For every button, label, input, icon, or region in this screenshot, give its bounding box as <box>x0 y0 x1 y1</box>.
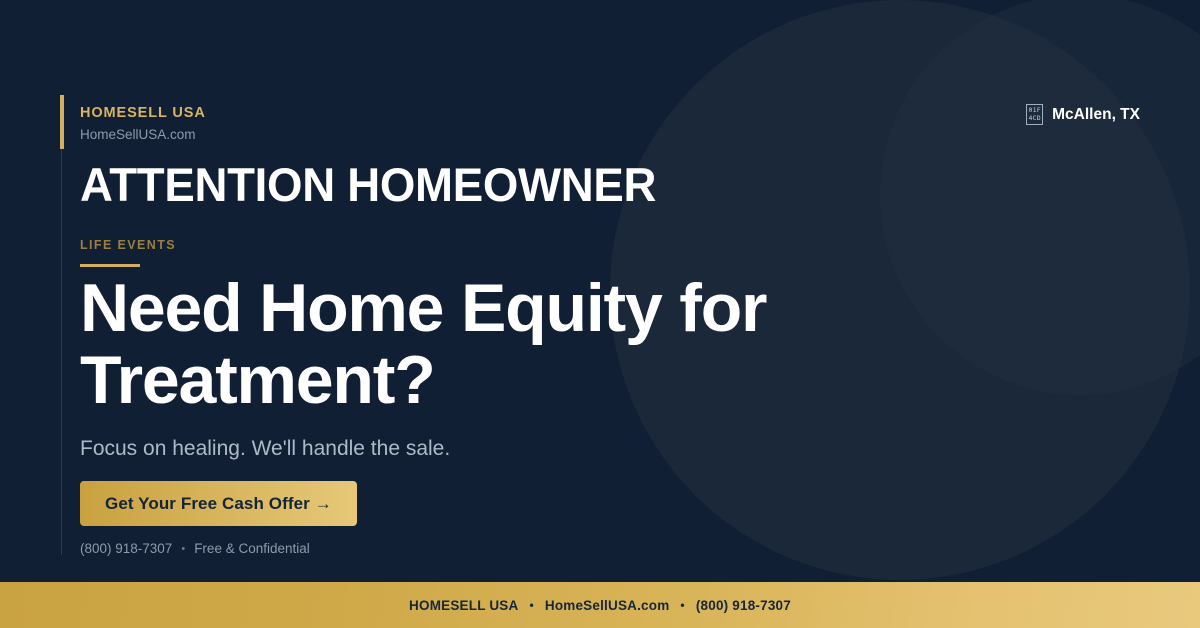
contact-line: (800) 918-7307 • Free & Confidential <box>80 541 310 557</box>
location-label: McAllen, TX <box>1052 106 1140 124</box>
contact-separator-icon: • <box>181 543 185 556</box>
location-pin-icon: 01F 4CD <box>1026 104 1043 125</box>
brand-name: HOMESELL USA <box>80 105 206 122</box>
contact-phone[interactable]: (800) 918-7307 <box>80 541 172 557</box>
location-badge: 01F 4CD McAllen, TX <box>1026 104 1140 125</box>
footer-website[interactable]: HomeSellUSA.com <box>545 598 670 613</box>
brand-website: HomeSellUSA.com <box>80 127 206 143</box>
contact-note: Free & Confidential <box>194 541 310 557</box>
footer-separator-two-icon: • <box>680 598 684 612</box>
cta-button[interactable]: Get Your Free Cash Offer → <box>80 481 357 526</box>
footer-phone[interactable]: (800) 918-7307 <box>696 598 791 613</box>
page-title: Need Home Equity for Treatment? <box>80 272 910 416</box>
footer-separator-one-icon: • <box>529 598 533 612</box>
left-rail-line <box>61 149 62 555</box>
footer-brand: HOMESELL USA <box>409 598 518 613</box>
footer-bar: HOMESELL USA • HomeSellUSA.com • (800) 9… <box>0 582 1200 628</box>
ad-banner: 01F 4CD McAllen, TX HOMESELL USA HomeSel… <box>0 0 1200 628</box>
kicker-text: ATTENTION HOMEOWNER <box>80 160 656 211</box>
left-accent-bar <box>60 95 64 149</box>
tofu-codepoint-bottom: 4CD <box>1028 115 1040 123</box>
footer-content: HOMESELL USA • HomeSellUSA.com • (800) 9… <box>409 598 791 613</box>
ad-content: HOMESELL USA HomeSellUSA.com ATTENTION H… <box>80 0 980 628</box>
eyebrow-underline <box>80 264 140 267</box>
subheadline: Focus on healing. We'll handle the sale. <box>80 435 450 462</box>
brand-block: HOMESELL USA HomeSellUSA.com <box>80 105 206 144</box>
eyebrow-block: LIFE EVENTS <box>80 238 176 267</box>
eyebrow-label: LIFE EVENTS <box>80 238 176 253</box>
